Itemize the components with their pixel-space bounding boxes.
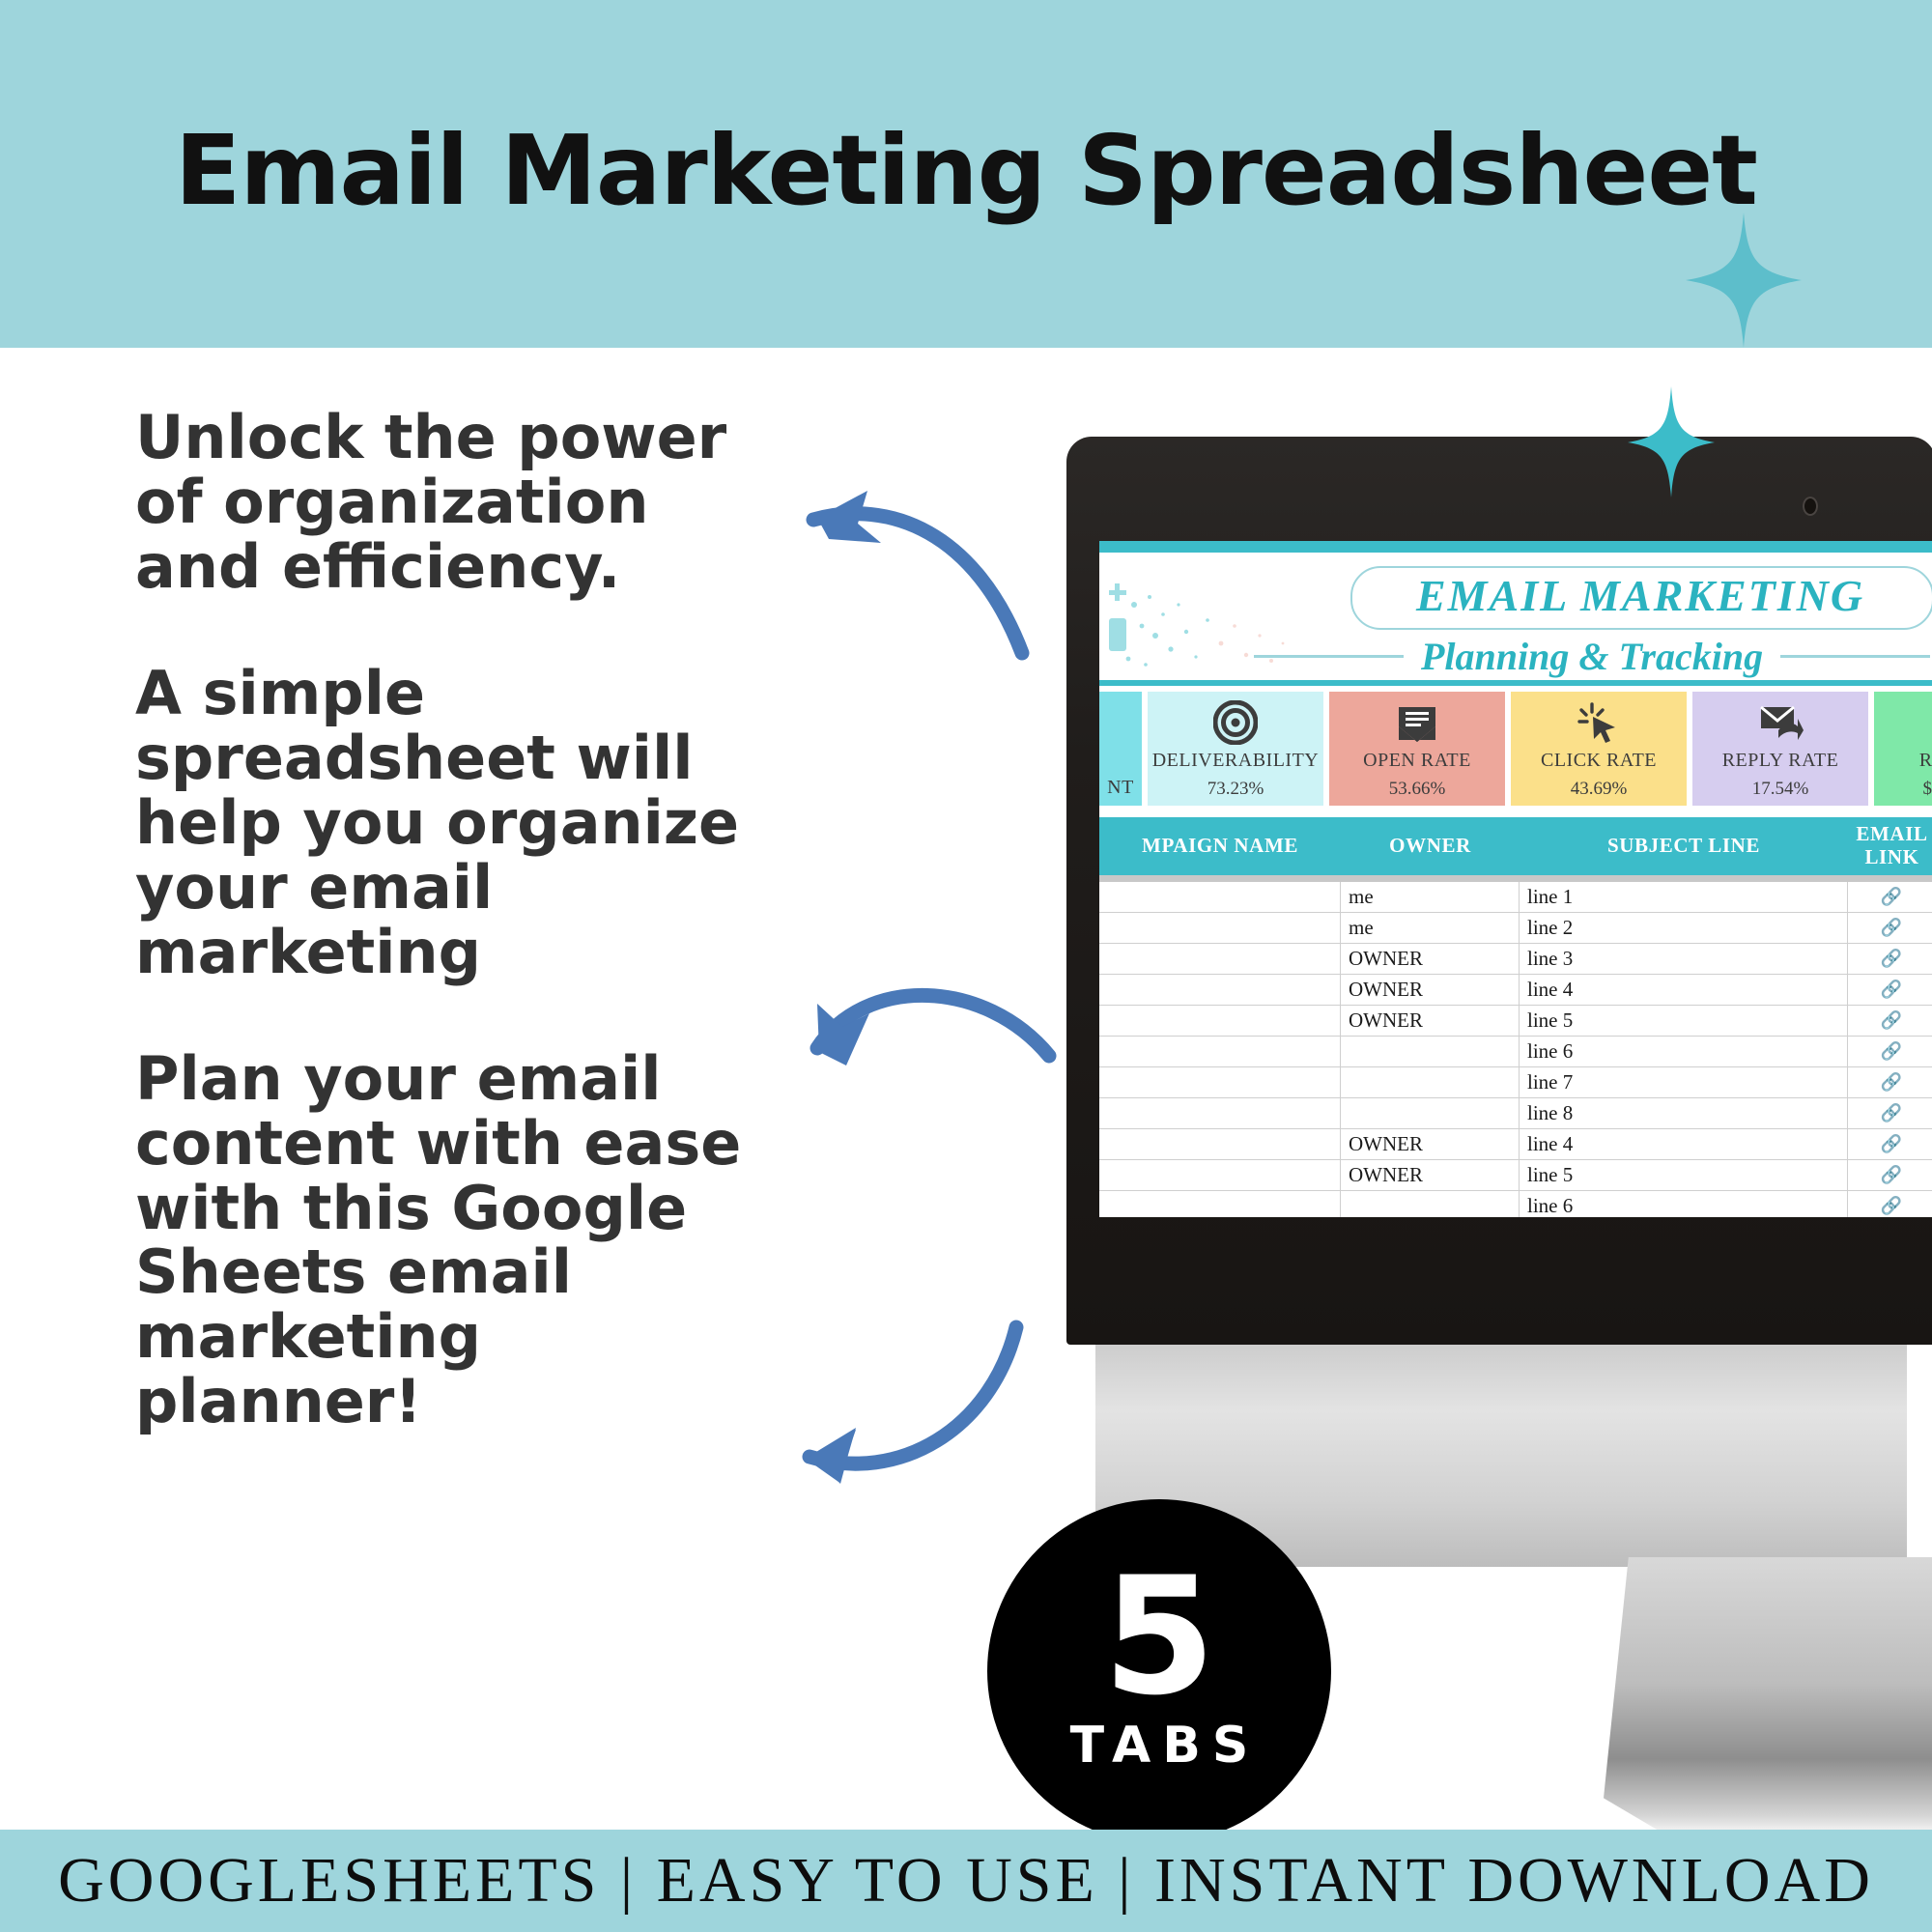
kpi-label: RE <box>1919 749 1932 773</box>
cell-email-link[interactable]: 🔗 <box>1848 913 1932 943</box>
kpi-card-partial[interactable]: NT <box>1099 692 1142 806</box>
kpi-value: 43.69% <box>1571 779 1628 800</box>
table-row[interactable]: line 6🔗 <box>1099 1037 1932 1067</box>
poster-canvas: Email Marketing Spreadsheet Unlock the p… <box>0 0 1932 1932</box>
cell-subject-line[interactable]: line 7 <box>1520 1067 1848 1097</box>
kpi-card-click-rate[interactable]: CLICK RATE 43.69% <box>1511 692 1687 806</box>
kpi-value: 53.66% <box>1389 779 1446 800</box>
chain-link-icon[interactable]: 🔗 <box>1881 1041 1902 1062</box>
table-header-row: MPAIGN NAME OWNER SUBJECT LINE EMAIL LIN… <box>1099 817 1932 875</box>
monitor-screen: EMAIL MARKETING Planning & Tracking NT <box>1099 541 1932 1217</box>
spreadsheet-subtitle: Planning & Tracking <box>1421 634 1763 679</box>
monitor-stand <box>1604 1557 1932 1837</box>
table-row[interactable]: meline 1🔗 <box>1099 882 1932 913</box>
kpi-card-deliverability[interactable]: DELIVERABILITY 73.23% <box>1148 692 1323 806</box>
column-header-email-link[interactable]: EMAIL LINK <box>1848 823 1932 868</box>
cell-subject-line[interactable]: line 1 <box>1520 882 1848 912</box>
target-icon <box>1213 696 1258 749</box>
table-row[interactable]: line 6🔗 <box>1099 1191 1932 1217</box>
cell-owner[interactable] <box>1341 1098 1520 1128</box>
cell-campaign-name[interactable] <box>1099 975 1341 1005</box>
table-header-gap <box>1099 875 1932 882</box>
table-row[interactable]: OWNERline 4🔗 <box>1099 975 1932 1006</box>
cell-owner[interactable]: OWNER <box>1341 944 1520 974</box>
table-row[interactable]: OWNERline 3🔗 <box>1099 944 1932 975</box>
cell-subject-line[interactable]: line 5 <box>1520 1160 1848 1190</box>
kpi-card-row: NT DELIVERABILITY 73.23% <box>1099 692 1932 806</box>
arrow-to-paragraph-3 <box>763 1294 1072 1507</box>
marketing-copy: Unlock the power of organization and eff… <box>135 406 753 1435</box>
chain-link-icon[interactable]: 🔗 <box>1881 1010 1902 1031</box>
tabs-count-badge: 5 TABS <box>987 1499 1331 1843</box>
table-row[interactable]: line 7🔗 <box>1099 1067 1932 1098</box>
cell-campaign-name[interactable] <box>1099 1160 1341 1190</box>
column-header-owner[interactable]: OWNER <box>1341 835 1520 858</box>
cell-campaign-name[interactable] <box>1099 944 1341 974</box>
spreadsheet-subtitle-row: Planning & Tracking <box>1254 634 1930 679</box>
cell-owner[interactable]: me <box>1341 882 1520 912</box>
kpi-value: 17.54% <box>1752 779 1809 800</box>
cell-owner[interactable]: OWNER <box>1341 975 1520 1005</box>
cell-campaign-name[interactable] <box>1099 882 1341 912</box>
copy-paragraph-1: Unlock the power of organization and eff… <box>135 406 753 600</box>
cell-campaign-name[interactable] <box>1099 1129 1341 1159</box>
sparkle-icon <box>1686 213 1802 348</box>
footer-text: GOOGLESHEETS | EASY TO USE | INSTANT DOW… <box>58 1844 1874 1918</box>
cell-owner[interactable] <box>1341 1037 1520 1066</box>
cell-campaign-name[interactable] <box>1099 1098 1341 1128</box>
kpi-label: CLICK RATE <box>1541 749 1657 773</box>
cell-owner[interactable]: OWNER <box>1341 1160 1520 1190</box>
webcam-dot-icon <box>1803 497 1818 516</box>
reply-envelope-icon <box>1757 696 1804 749</box>
cell-owner[interactable]: OWNER <box>1341 1129 1520 1159</box>
table-row[interactable]: OWNERline 5🔗 <box>1099 1160 1932 1191</box>
chain-link-icon[interactable]: 🔗 <box>1881 918 1902 938</box>
sparkle-icon-monitor <box>1628 386 1715 497</box>
cell-owner[interactable]: OWNER <box>1341 1006 1520 1036</box>
cell-subject-line[interactable]: line 5 <box>1520 1006 1848 1036</box>
cell-owner[interactable]: me <box>1341 913 1520 943</box>
spreadsheet-title: EMAIL MARKETING <box>1350 570 1930 621</box>
kpi-label: OPEN RATE <box>1363 749 1471 773</box>
table-row[interactable]: OWNERline 4🔗 <box>1099 1129 1932 1160</box>
column-header-subject-line[interactable]: SUBJECT LINE <box>1520 835 1848 858</box>
badge-label: TABS <box>1059 1717 1261 1775</box>
chain-link-icon[interactable]: 🔗 <box>1881 887 1902 907</box>
cell-email-link[interactable]: 🔗 <box>1848 1006 1932 1036</box>
cell-subject-line[interactable]: line 6 <box>1520 1037 1848 1066</box>
cell-email-link[interactable]: 🔗 <box>1848 1037 1932 1066</box>
kpi-label: NT <box>1107 776 1134 800</box>
kpi-card-open-rate[interactable]: OPEN RATE 53.66% <box>1329 692 1505 806</box>
kpi-label: REPLY RATE <box>1722 749 1839 773</box>
top-banner: Email Marketing Spreadsheet <box>0 0 1932 348</box>
campaign-table: MPAIGN NAME OWNER SUBJECT LINE EMAIL LIN… <box>1099 817 1932 1217</box>
chain-link-icon[interactable]: 🔗 <box>1881 1165 1902 1185</box>
arrow-to-paragraph-2 <box>773 971 1063 1116</box>
bottom-banner: GOOGLESHEETS | EASY TO USE | INSTANT DOW… <box>0 1830 1932 1932</box>
header-divider <box>1099 680 1932 686</box>
cell-email-link[interactable]: 🔗 <box>1848 1160 1932 1190</box>
arrow-to-paragraph-1 <box>773 473 1063 667</box>
table-row[interactable]: line 8🔗 <box>1099 1098 1932 1129</box>
table-body: meline 1🔗meline 2🔗OWNERline 3🔗OWNERline … <box>1099 882 1932 1217</box>
subtitle-rule-left <box>1254 655 1404 658</box>
cell-email-link[interactable]: 🔗 <box>1848 1098 1932 1128</box>
open-envelope-icon <box>1395 696 1439 749</box>
kpi-card-reply-rate[interactable]: REPLY RATE 17.54% <box>1692 692 1868 806</box>
cell-email-link[interactable]: 🔗 <box>1848 1129 1932 1159</box>
column-header-campaign-name[interactable]: MPAIGN NAME <box>1099 835 1341 858</box>
badge-number: 5 <box>1103 1562 1216 1712</box>
kpi-label: DELIVERABILITY <box>1152 749 1320 773</box>
table-row[interactable]: meline 2🔗 <box>1099 913 1932 944</box>
chain-link-icon[interactable]: 🔗 <box>1881 1072 1902 1093</box>
copy-paragraph-2: A simple spreadsheet will help you organ… <box>135 662 753 985</box>
cell-owner[interactable] <box>1341 1191 1520 1217</box>
cell-email-link[interactable]: 🔗 <box>1848 944 1932 974</box>
cell-subject-line[interactable]: line 3 <box>1520 944 1848 974</box>
cell-email-link[interactable]: 🔗 <box>1848 1191 1932 1217</box>
imac-monitor: EMAIL MARKETING Planning & Tracking NT <box>1066 437 1932 1345</box>
page-title: Email Marketing Spreadsheet <box>0 114 1932 227</box>
chain-link-icon[interactable]: 🔗 <box>1881 980 1902 1000</box>
chain-link-icon[interactable]: 🔗 <box>1881 1134 1902 1154</box>
chain-link-icon[interactable]: 🔗 <box>1881 949 1902 969</box>
cell-campaign-name[interactable] <box>1099 1006 1341 1036</box>
cell-campaign-name[interactable] <box>1099 1191 1341 1217</box>
subtitle-rule-right <box>1780 655 1930 658</box>
table-row[interactable]: OWNERline 5🔗 <box>1099 1006 1932 1037</box>
cell-subject-line[interactable]: line 2 <box>1520 913 1848 943</box>
cell-email-link[interactable]: 🔗 <box>1848 882 1932 912</box>
cell-subject-line[interactable]: line 4 <box>1520 1129 1848 1159</box>
cell-email-link[interactable]: 🔗 <box>1848 975 1932 1005</box>
click-cursor-icon <box>1577 696 1621 749</box>
chain-link-icon[interactable]: 🔗 <box>1881 1196 1902 1216</box>
cell-campaign-name[interactable] <box>1099 913 1341 943</box>
cell-subject-line[interactable]: line 6 <box>1520 1191 1848 1217</box>
kpi-value: 73.23% <box>1207 779 1264 800</box>
cell-owner[interactable] <box>1341 1067 1520 1097</box>
cell-subject-line[interactable]: line 4 <box>1520 975 1848 1005</box>
copy-paragraph-3: Plan your email content with ease with t… <box>135 1047 753 1435</box>
cell-subject-line[interactable]: line 8 <box>1520 1098 1848 1128</box>
cell-campaign-name[interactable] <box>1099 1037 1341 1066</box>
kpi-card-revenue[interactable]: RE $8 <box>1874 692 1932 806</box>
sheet-header: EMAIL MARKETING Planning & Tracking <box>1099 541 1932 686</box>
kpi-value: $8 <box>1923 779 1932 800</box>
cell-campaign-name[interactable] <box>1099 1067 1341 1097</box>
chain-link-icon[interactable]: 🔗 <box>1881 1103 1902 1123</box>
cell-email-link[interactable]: 🔗 <box>1848 1067 1932 1097</box>
